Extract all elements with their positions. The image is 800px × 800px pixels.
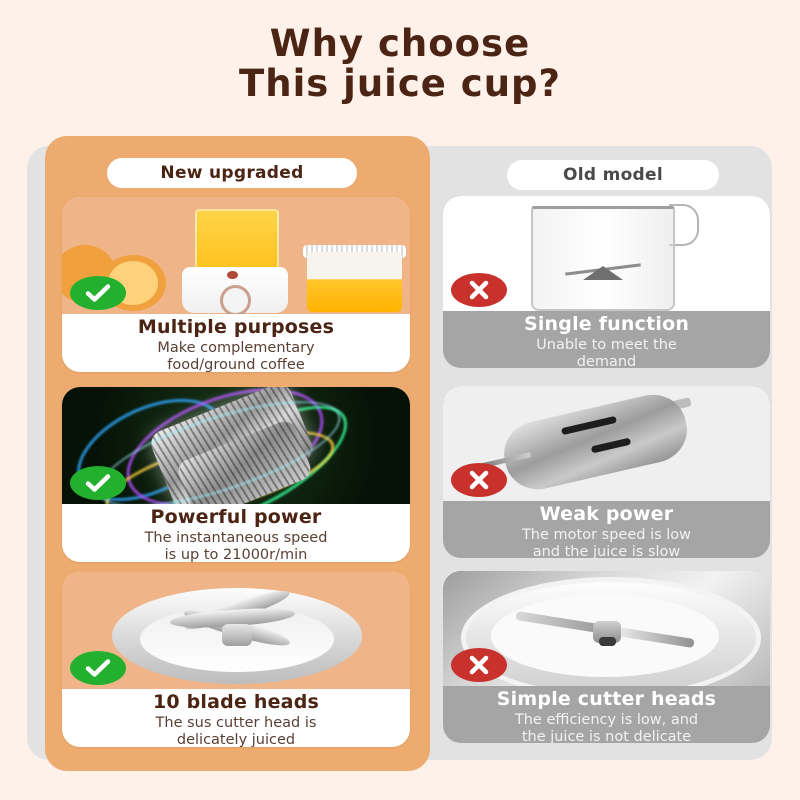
feature-title: Weak power bbox=[443, 504, 770, 526]
feature-photo-motor-glow bbox=[62, 387, 410, 504]
feature-title: Multiple purposes bbox=[62, 317, 410, 339]
check-icon bbox=[70, 466, 126, 500]
feature-photo-clear-jar bbox=[443, 196, 770, 311]
feature-caption: 10 blade heads The sus cutter head is de… bbox=[62, 689, 410, 747]
feature-photo-simple-blade bbox=[443, 571, 770, 686]
feature-subtitle-line2: the juice is not delicate bbox=[443, 729, 770, 743]
feature-card-new-1[interactable]: Multiple purposes Make complementary foo… bbox=[62, 197, 410, 372]
feature-caption: Powerful power The instantaneous speed i… bbox=[62, 504, 410, 562]
page-title-line-2: This juice cup? bbox=[0, 64, 800, 104]
column-header-old: Old model bbox=[507, 160, 719, 190]
feature-card-new-3[interactable]: 10 blade heads The sus cutter head is de… bbox=[62, 572, 410, 747]
feature-subtitle-line1: The efficiency is low, and bbox=[443, 712, 770, 728]
feature-caption: Weak power The motor speed is low and th… bbox=[443, 501, 770, 558]
column-header-new: New upgraded bbox=[107, 158, 357, 188]
feature-subtitle-line2: food/ground coffee bbox=[62, 357, 410, 372]
check-icon bbox=[70, 276, 126, 310]
feature-subtitle-line2: is up to 21000r/min bbox=[62, 547, 410, 562]
feature-title: Powerful power bbox=[62, 507, 410, 529]
cross-icon bbox=[451, 273, 507, 307]
feature-photo-juicer bbox=[62, 197, 410, 314]
page-title: Why choose This juice cup? bbox=[0, 24, 800, 104]
feature-title: Single function bbox=[443, 314, 770, 336]
feature-photo-blade-head bbox=[62, 572, 410, 689]
cross-icon bbox=[451, 463, 507, 497]
feature-subtitle-line2: delicately juiced bbox=[62, 732, 410, 747]
feature-caption: Multiple purposes Make complementary foo… bbox=[62, 314, 410, 372]
feature-caption: Single function Unable to meet the deman… bbox=[443, 311, 770, 368]
feature-subtitle-line2: and the juice is slow bbox=[443, 544, 770, 558]
feature-card-old-2[interactable]: Weak power The motor speed is low and th… bbox=[443, 386, 770, 558]
feature-card-new-2[interactable]: Powerful power The instantaneous speed i… bbox=[62, 387, 410, 562]
cross-icon bbox=[451, 648, 507, 682]
feature-subtitle-line1: The instantaneous speed bbox=[62, 530, 410, 546]
feature-photo-dc-motor bbox=[443, 386, 770, 501]
feature-subtitle-line2: demand bbox=[443, 354, 770, 368]
check-icon bbox=[70, 651, 126, 685]
feature-subtitle-line1: The sus cutter head is bbox=[62, 715, 410, 731]
page-title-line-1: Why choose bbox=[0, 24, 800, 64]
feature-caption: Simple cutter heads The efficiency is lo… bbox=[443, 686, 770, 743]
feature-subtitle-line1: The motor speed is low bbox=[443, 527, 770, 543]
feature-subtitle-line1: Unable to meet the bbox=[443, 337, 770, 353]
feature-title: 10 blade heads bbox=[62, 692, 410, 714]
feature-card-old-1[interactable]: Single function Unable to meet the deman… bbox=[443, 196, 770, 368]
feature-title: Simple cutter heads bbox=[443, 689, 770, 711]
feature-subtitle-line1: Make complementary bbox=[62, 340, 410, 356]
feature-card-old-3[interactable]: Simple cutter heads The efficiency is lo… bbox=[443, 571, 770, 743]
